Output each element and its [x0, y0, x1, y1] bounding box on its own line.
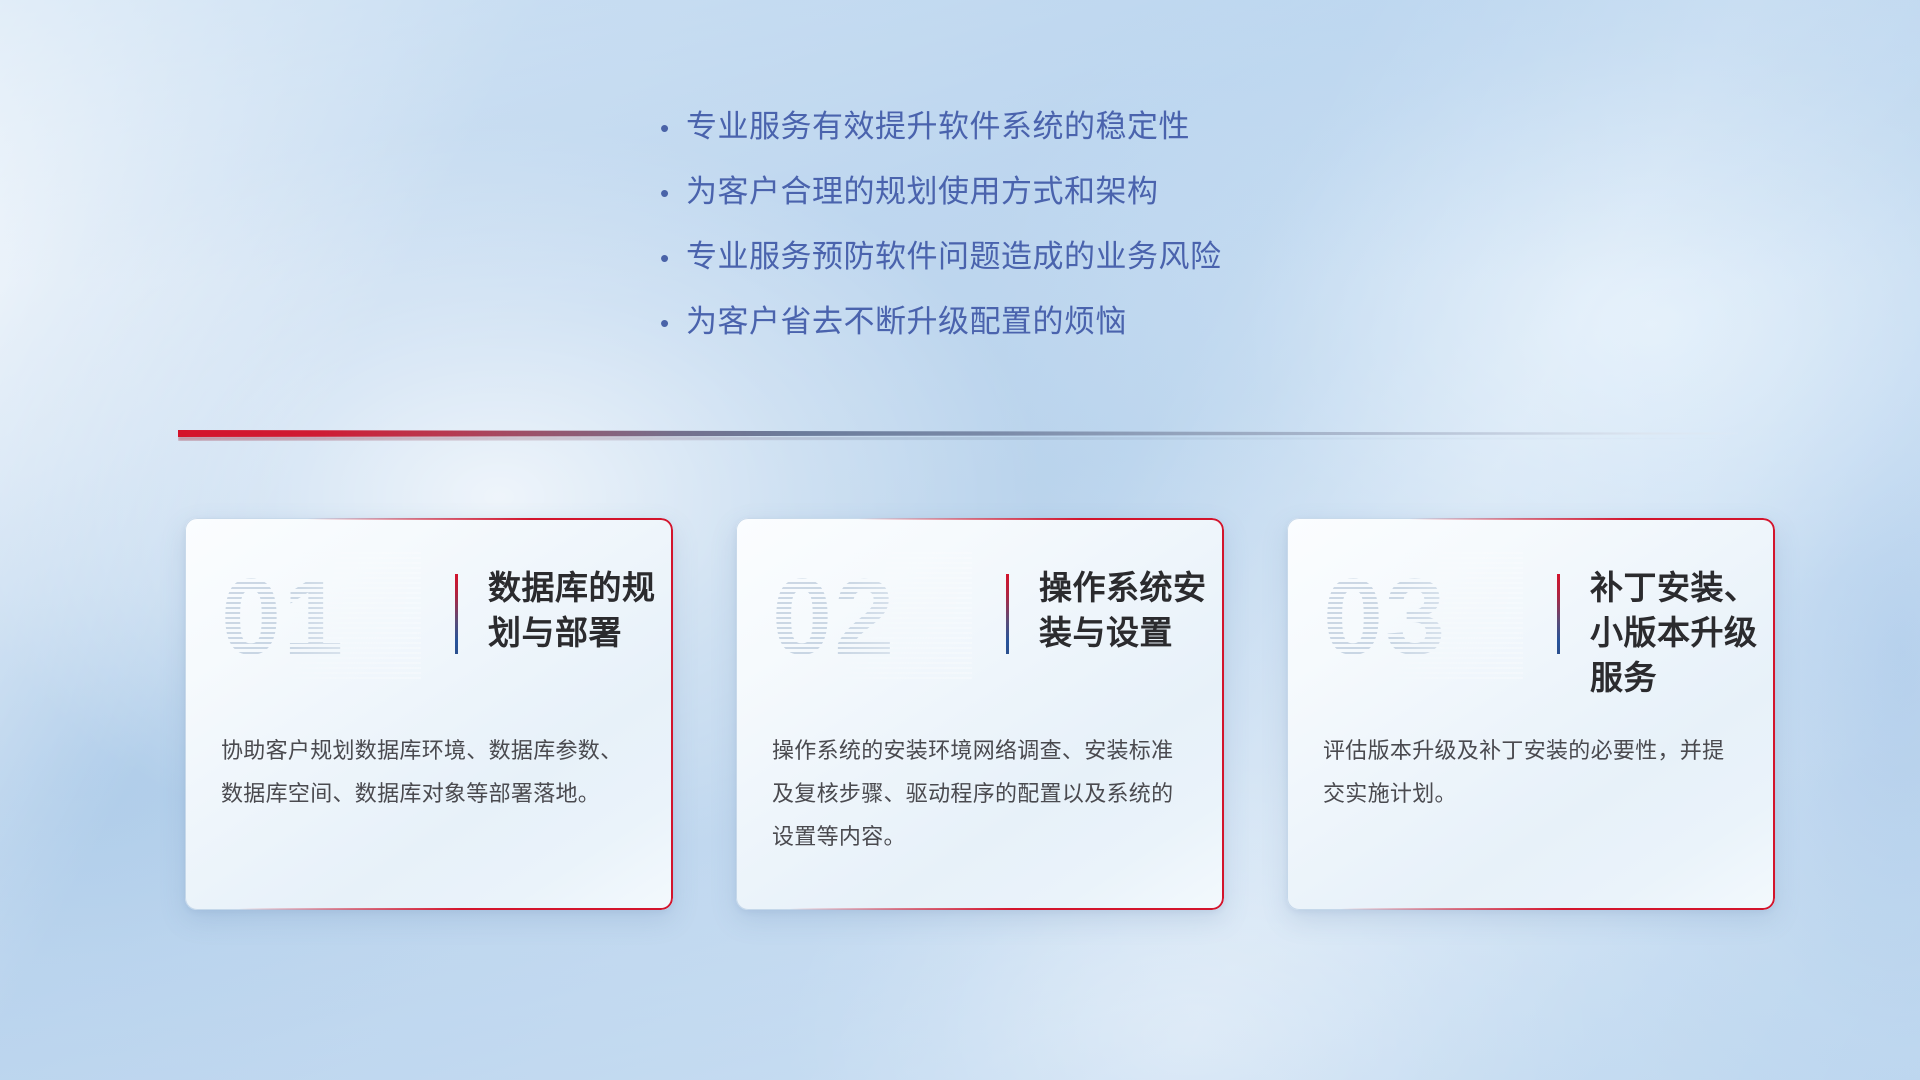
card-number-watermark: 02 — [772, 552, 972, 682]
bullet-text: 为客户合理的规划使用方式和架构 — [686, 173, 1159, 210]
service-card-group: 01 数据库的规划与部署 协助客户规划数据库环境、数据库参数、数据库空间、数据库… — [185, 518, 1775, 910]
bullet-text: 专业服务有效提升软件系统的稳定性 — [686, 108, 1190, 145]
bullet-dot-icon — [660, 310, 686, 336]
card-title: 数据库的规划与部署 — [488, 566, 673, 656]
gradient-divider — [178, 424, 1738, 446]
bullet-text: 专业服务预防软件问题造成的业务风险 — [686, 238, 1222, 275]
bullet-text: 为客户省去不断升级配置的烦恼 — [686, 303, 1127, 340]
card-body-text: 操作系统的安装环境网络调查、安装标准及复核步骤、驱动程序的配置以及系统的设置等内… — [772, 730, 1192, 859]
card-title-rule — [1557, 574, 1560, 654]
service-card-03[interactable]: 03 补丁安装、小版本升级服务 评估版本升级及补丁安装的必要性，并提交实施计划。 — [1287, 518, 1775, 910]
list-item: 为客户合理的规划使用方式和架构 — [660, 173, 1560, 238]
card-title: 操作系统安装与设置 — [1039, 566, 1224, 656]
divider-line — [178, 430, 1738, 437]
slide-canvas: 专业服务有效提升软件系统的稳定性 为客户合理的规划使用方式和架构 专业服务预防软… — [0, 0, 1920, 1080]
bullet-dot-icon — [660, 180, 686, 206]
card-title-rule — [1006, 574, 1009, 654]
card-number-watermark: 03 — [1323, 552, 1523, 682]
card-title-rule — [455, 574, 458, 654]
list-item: 专业服务预防软件问题造成的业务风险 — [660, 238, 1560, 303]
service-card-01[interactable]: 01 数据库的规划与部署 协助客户规划数据库环境、数据库参数、数据库空间、数据库… — [185, 518, 673, 910]
card-title: 补丁安装、小版本升级服务 — [1590, 566, 1775, 701]
benefits-bullet-list: 专业服务有效提升软件系统的稳定性 为客户合理的规划使用方式和架构 专业服务预防软… — [660, 108, 1560, 368]
bullet-dot-icon — [660, 245, 686, 271]
bullet-dot-icon — [660, 115, 686, 141]
divider-shadow — [178, 436, 1738, 441]
list-item: 为客户省去不断升级配置的烦恼 — [660, 303, 1560, 368]
service-card-02[interactable]: 02 操作系统安装与设置 操作系统的安装环境网络调查、安装标准及复核步骤、驱动程… — [736, 518, 1224, 910]
card-number-watermark: 01 — [221, 552, 421, 682]
list-item: 专业服务有效提升软件系统的稳定性 — [660, 108, 1560, 173]
card-body-text: 协助客户规划数据库环境、数据库参数、数据库空间、数据库对象等部署落地。 — [221, 730, 641, 816]
card-body-text: 评估版本升级及补丁安装的必要性，并提交实施计划。 — [1323, 730, 1743, 816]
